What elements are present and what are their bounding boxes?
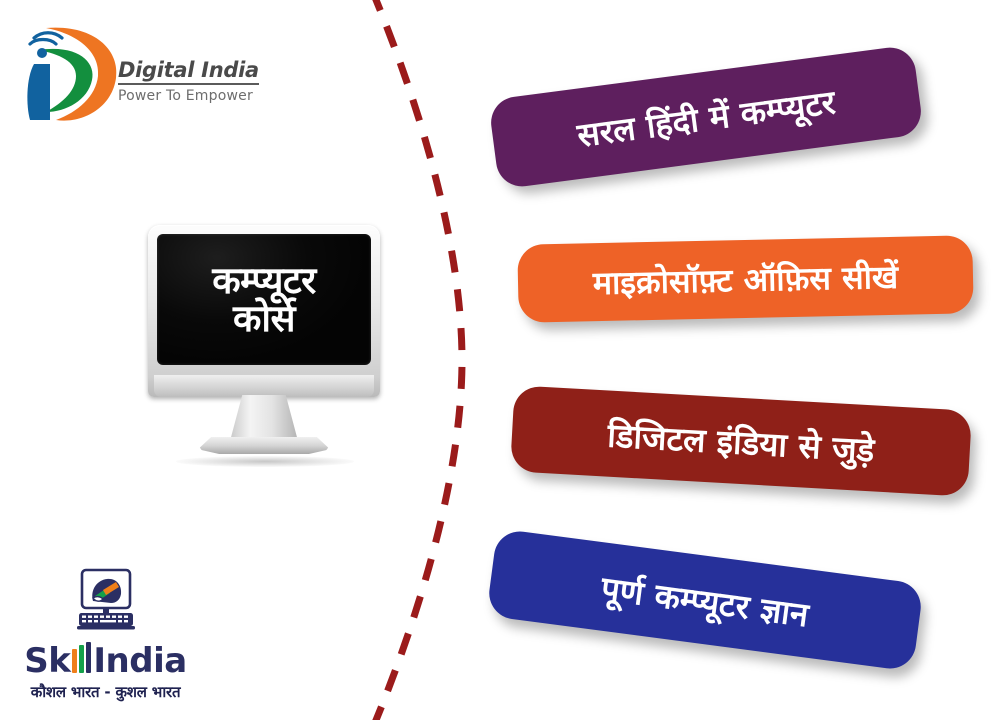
skill-india-logo: Sk India कौशल भारत - कुशल भारत bbox=[18, 568, 193, 700]
monitor-screen-line-1: कम्प्यूटर bbox=[212, 262, 316, 300]
skill-india-title-part2: India bbox=[93, 644, 186, 678]
monitor-stand-neck bbox=[230, 395, 298, 441]
monitor-bezel: कम्प्यूटर कोर्स bbox=[148, 225, 380, 397]
feature-pill-simple-hindi[interactable]: सरल हिंदी में कम्प्यूटर bbox=[488, 44, 924, 189]
feature-pill-microsoft-office[interactable]: माइक्रोसॉफ़्ट ऑफ़िस सीखें bbox=[517, 235, 974, 323]
feature-pill-digital-india[interactable]: डिजिटल इंडिया से जुड़े bbox=[510, 385, 972, 496]
skill-india-monitor-icon bbox=[73, 568, 139, 632]
poster-canvas: Digital India Power To Empower कम्प्यूटर… bbox=[0, 0, 1000, 720]
digital-india-logo: Digital India Power To Empower bbox=[8, 18, 268, 128]
computer-monitor-graphic: कम्प्यूटर कोर्स bbox=[140, 225, 390, 480]
skill-india-tagline: कौशल भारत - कुशल भारत bbox=[18, 682, 193, 702]
monitor-screen: कम्प्यूटर कोर्स bbox=[157, 234, 371, 365]
skill-india-title: Sk India bbox=[18, 641, 193, 678]
digital-india-tagline: Power To Empower bbox=[118, 88, 268, 104]
feature-pill-complete-knowledge[interactable]: पूर्ण कम्प्यूटर ज्ञान bbox=[486, 528, 924, 671]
monitor-screen-line-2: कोर्स bbox=[233, 300, 295, 338]
monitor-stand-base bbox=[198, 437, 330, 454]
digital-india-title: Digital India bbox=[118, 60, 259, 85]
digital-india-wordmark: Digital India Power To Empower bbox=[118, 60, 268, 104]
monitor-drop-shadow bbox=[176, 456, 354, 467]
monitor-chin bbox=[154, 375, 374, 397]
digital-india-emblem-icon bbox=[16, 20, 128, 128]
skill-india-tricolor-bars-icon bbox=[72, 642, 91, 673]
skill-india-title-part1: Sk bbox=[24, 644, 70, 678]
